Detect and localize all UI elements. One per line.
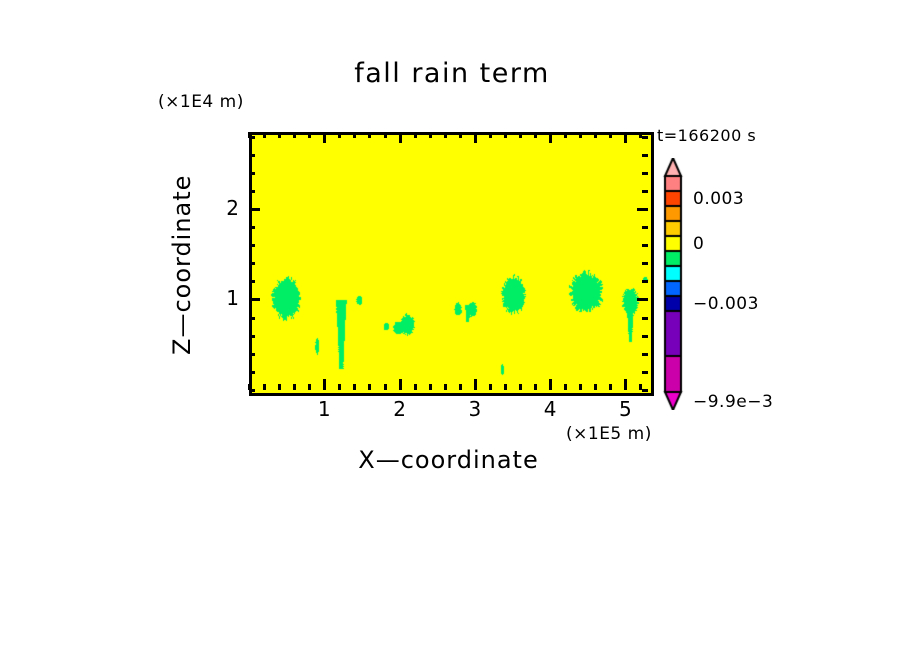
y-minor-tick bbox=[249, 335, 255, 338]
x-top-tick bbox=[579, 132, 582, 138]
x-top-tick bbox=[429, 132, 432, 138]
y-right-tick bbox=[642, 371, 648, 374]
x-top-tick bbox=[353, 132, 356, 138]
y-right-tick bbox=[642, 353, 648, 356]
x-major-tick bbox=[399, 379, 402, 390]
x-major-tick bbox=[549, 379, 552, 390]
plot-title: fall rain term bbox=[0, 58, 904, 89]
x-minor-tick bbox=[384, 384, 387, 390]
y-right-tick bbox=[642, 389, 648, 392]
colorbar-canvas bbox=[657, 158, 689, 410]
x-top-tick bbox=[459, 132, 462, 138]
x-top-tick bbox=[323, 132, 326, 143]
y-right-tick bbox=[642, 172, 648, 175]
y-right-tick bbox=[642, 280, 648, 283]
x-top-tick bbox=[474, 132, 477, 143]
x-minor-tick bbox=[444, 384, 447, 390]
colorbar-tick-label: −9.9e−3 bbox=[693, 392, 773, 412]
colorbar: 0.0030−0.003−9.9e−3 bbox=[657, 158, 777, 410]
x-top-tick bbox=[368, 132, 371, 138]
x-minor-tick bbox=[353, 384, 356, 390]
y-axis-unit-label: (×1E4 m) bbox=[158, 92, 244, 112]
y-minor-tick bbox=[249, 353, 255, 356]
y-minor-tick bbox=[249, 226, 255, 229]
x-tick-label: 3 bbox=[455, 397, 495, 421]
y-minor-tick bbox=[249, 262, 255, 265]
x-top-tick bbox=[384, 132, 387, 138]
y-major-tick bbox=[249, 208, 260, 211]
x-top-tick bbox=[338, 132, 341, 138]
x-top-tick bbox=[594, 132, 597, 138]
x-top-tick bbox=[489, 132, 492, 138]
x-minor-tick bbox=[579, 384, 582, 390]
y-right-tick bbox=[642, 226, 648, 229]
x-major-tick bbox=[323, 379, 326, 390]
y-minor-tick bbox=[249, 280, 255, 283]
x-top-tick bbox=[263, 132, 266, 138]
x-minor-tick bbox=[368, 384, 371, 390]
y-axis-title: Z—coordinate bbox=[168, 170, 192, 360]
x-minor-tick bbox=[594, 384, 597, 390]
x-minor-tick bbox=[414, 384, 417, 390]
x-top-tick bbox=[399, 132, 402, 143]
x-minor-tick bbox=[293, 384, 296, 390]
x-top-tick bbox=[609, 132, 612, 138]
colorbar-tick-label: 0.003 bbox=[693, 189, 744, 209]
x-top-tick bbox=[519, 132, 522, 138]
y-right-tick bbox=[642, 136, 648, 139]
y-tick-label: 1 bbox=[199, 286, 239, 310]
y-right-tick bbox=[637, 208, 648, 211]
x-minor-tick bbox=[519, 384, 522, 390]
y-minor-tick bbox=[249, 172, 255, 175]
colorbar-tick-label: 0 bbox=[693, 234, 704, 254]
x-minor-tick bbox=[609, 384, 612, 390]
x-minor-tick bbox=[429, 384, 432, 390]
x-top-tick bbox=[293, 132, 296, 138]
x-top-tick bbox=[504, 132, 507, 138]
x-tick-label: 2 bbox=[380, 397, 420, 421]
y-minor-tick bbox=[249, 389, 255, 392]
x-minor-tick bbox=[534, 384, 537, 390]
x-top-tick bbox=[444, 132, 447, 138]
x-minor-tick bbox=[564, 384, 567, 390]
y-right-tick bbox=[642, 244, 648, 247]
x-major-tick bbox=[624, 379, 627, 390]
x-top-tick bbox=[534, 132, 537, 138]
y-minor-tick bbox=[249, 154, 255, 157]
x-axis-title: X—coordinate bbox=[249, 446, 648, 474]
contour-field-canvas bbox=[252, 135, 651, 393]
y-right-tick bbox=[642, 154, 648, 157]
y-minor-tick bbox=[249, 371, 255, 374]
y-minor-tick bbox=[249, 244, 255, 247]
colorbar-tick-label: −0.003 bbox=[693, 294, 759, 314]
x-top-tick bbox=[549, 132, 552, 143]
y-minor-tick bbox=[249, 317, 255, 320]
y-right-tick bbox=[642, 317, 648, 320]
x-minor-tick bbox=[263, 384, 266, 390]
x-top-tick bbox=[414, 132, 417, 138]
y-right-tick bbox=[642, 190, 648, 193]
x-minor-tick bbox=[278, 384, 281, 390]
x-minor-tick bbox=[338, 384, 341, 390]
x-tick-label: 5 bbox=[605, 397, 645, 421]
x-minor-tick bbox=[504, 384, 507, 390]
x-minor-tick bbox=[489, 384, 492, 390]
plot-area bbox=[249, 132, 654, 396]
x-top-tick bbox=[624, 132, 627, 143]
x-top-tick bbox=[278, 132, 281, 138]
x-tick-label: 4 bbox=[530, 397, 570, 421]
y-major-tick bbox=[249, 298, 260, 301]
y-tick-label: 2 bbox=[199, 196, 239, 220]
x-major-tick bbox=[474, 379, 477, 390]
x-minor-tick bbox=[308, 384, 311, 390]
y-minor-tick bbox=[249, 190, 255, 193]
y-right-tick bbox=[642, 335, 648, 338]
x-top-tick bbox=[564, 132, 567, 138]
x-top-tick bbox=[248, 132, 251, 138]
y-right-tick bbox=[637, 298, 648, 301]
y-right-tick bbox=[642, 262, 648, 265]
x-tick-label: 1 bbox=[304, 397, 344, 421]
timestamp-annotation: t=166200 s bbox=[657, 126, 756, 145]
x-minor-tick bbox=[459, 384, 462, 390]
x-axis-unit-label: (×1E5 m) bbox=[566, 424, 652, 444]
x-top-tick bbox=[308, 132, 311, 138]
